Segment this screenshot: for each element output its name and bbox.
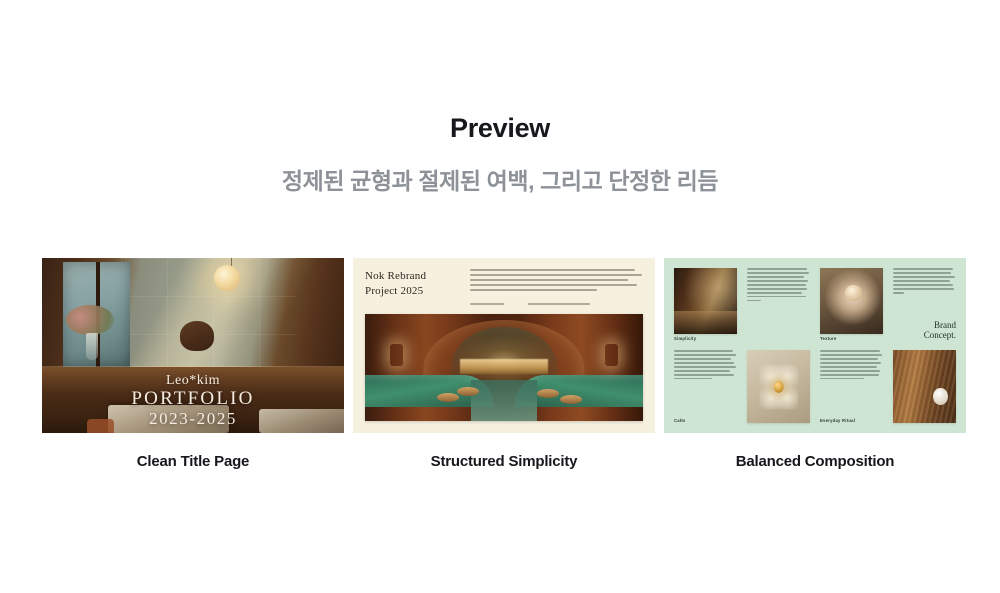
text-line: [674, 354, 736, 356]
grid-label-everyday-ritual: Everyday Ritual: [820, 419, 883, 423]
text-line: [893, 272, 951, 274]
brand-concept-line-2: Concept.: [893, 330, 956, 341]
preview-page: Preview 정제된 균형과 절제된 여백, 그리고 단정한 리듬: [0, 0, 1000, 593]
photo-cafe-window: [674, 268, 737, 334]
flower-vase: [74, 319, 108, 358]
slide-author-name: Leo*kim: [42, 374, 344, 389]
editorial-grid: Simplicity: [674, 268, 956, 423]
text-line: [470, 269, 635, 271]
grid-label-texture: Texture: [820, 337, 883, 341]
wood-table-image: [893, 350, 956, 423]
text-line: [820, 362, 881, 364]
text-line: [674, 374, 734, 376]
text-line: [893, 268, 953, 270]
text-line: [470, 274, 642, 276]
slide-portfolio-word: PORTFOLIO: [42, 389, 344, 409]
text-line: [747, 268, 807, 270]
text-line: [747, 272, 809, 274]
center-aisle-floor: [471, 380, 538, 421]
text-line: [674, 378, 712, 380]
photo-wood-table: [893, 350, 956, 423]
text-line: [747, 292, 802, 294]
text-line: [674, 358, 731, 360]
photo-coffee-dessert: [820, 268, 883, 334]
text-line: [674, 370, 730, 372]
slide-thumbnail-balanced-composition[interactable]: Simplicity: [664, 258, 966, 433]
flower-image: [747, 350, 810, 423]
card-caption-balanced-composition: Balanced Composition: [664, 453, 966, 470]
slide-title-block: Leo*kim PORTFOLIO 2023-2025: [42, 374, 344, 428]
preview-card-clean-title-page[interactable]: Leo*kim PORTFOLIO 2023-2025 Clean Title …: [42, 258, 344, 470]
text-line: [820, 354, 882, 356]
page-header: Preview 정제된 균형과 절제된 여백, 그리고 단정한 리듬: [0, 112, 1000, 196]
brand-concept-heading: Brand Concept.: [893, 320, 956, 341]
grid-cell-text-top-left: [747, 268, 810, 341]
grid-cell-flower: [747, 350, 810, 423]
text-line: [470, 289, 597, 291]
preview-card-structured-simplicity[interactable]: Nok Rebrand Project 2025: [353, 258, 655, 470]
grid-cell-simplicity: Simplicity: [674, 268, 737, 341]
slide-body-paragraph: [470, 269, 642, 294]
slide-meta-row: [470, 303, 642, 305]
card-caption-clean-title-page: Clean Title Page: [42, 453, 344, 470]
cafe-image: [674, 268, 737, 334]
bar-stool: [457, 387, 479, 396]
meta-label: [470, 303, 504, 305]
grid-label-calm: Calm: [674, 419, 737, 423]
grid-cell-wood-table: [893, 350, 956, 423]
photo-flower-shadow: [747, 350, 810, 423]
page-title: Preview: [0, 112, 1000, 144]
wall-sconce-icon: [605, 344, 618, 366]
text-line: [747, 284, 806, 286]
text-line: [820, 374, 879, 376]
slide-photo-restaurant-interior: [365, 314, 643, 421]
slide-year-range: 2023-2025: [42, 410, 344, 428]
preview-card-list: Leo*kim PORTFOLIO 2023-2025 Clean Title …: [42, 258, 964, 470]
pendant-lamp-icon: [214, 265, 240, 291]
text-line: [893, 284, 953, 286]
text-line: [674, 366, 736, 368]
grid-label-simplicity: Simplicity: [674, 337, 737, 341]
text-line: [470, 284, 637, 286]
text-line: [820, 358, 878, 360]
text-line: [747, 280, 808, 282]
text-line: [893, 288, 954, 290]
back-bar: [460, 359, 549, 374]
vase-glass: [86, 333, 98, 360]
text-line: [674, 350, 733, 352]
text-line: [747, 296, 806, 298]
text-line: [674, 362, 734, 364]
grid-cell-text-bottom-right: Everyday Ritual: [820, 350, 883, 423]
text-line: [747, 288, 807, 290]
text-line: [820, 378, 864, 380]
meta-value: [528, 303, 590, 305]
text-line: [893, 280, 950, 282]
grid-cell-text-bottom-left: Calm: [674, 350, 737, 423]
bar-stool: [537, 389, 559, 398]
text-line: [470, 279, 628, 281]
page-subtitle: 정제된 균형과 절제된 여백, 그리고 단정한 리듬: [0, 167, 1000, 196]
wall-sconce-icon: [390, 344, 403, 366]
text-line: [820, 370, 880, 372]
slide-thumbnail-clean-title-page[interactable]: Leo*kim PORTFOLIO 2023-2025: [42, 258, 344, 433]
text-line: [820, 350, 880, 352]
slide-thumbnail-structured-simplicity[interactable]: Nok Rebrand Project 2025: [353, 258, 655, 433]
text-line: [893, 292, 904, 294]
text-line: [747, 300, 761, 302]
flower-bouquet: [66, 305, 114, 335]
text-line: [820, 366, 877, 368]
text-line: [747, 276, 804, 278]
card-caption-structured-simplicity: Structured Simplicity: [353, 453, 655, 470]
preview-card-balanced-composition[interactable]: Simplicity: [664, 258, 966, 470]
brand-concept-line-1: Brand: [893, 320, 956, 331]
grid-cell-texture: Texture: [820, 268, 883, 341]
coffee-image: [820, 268, 883, 334]
text-line: [893, 276, 955, 278]
grid-cell-text-top-right: Brand Concept.: [893, 268, 956, 341]
